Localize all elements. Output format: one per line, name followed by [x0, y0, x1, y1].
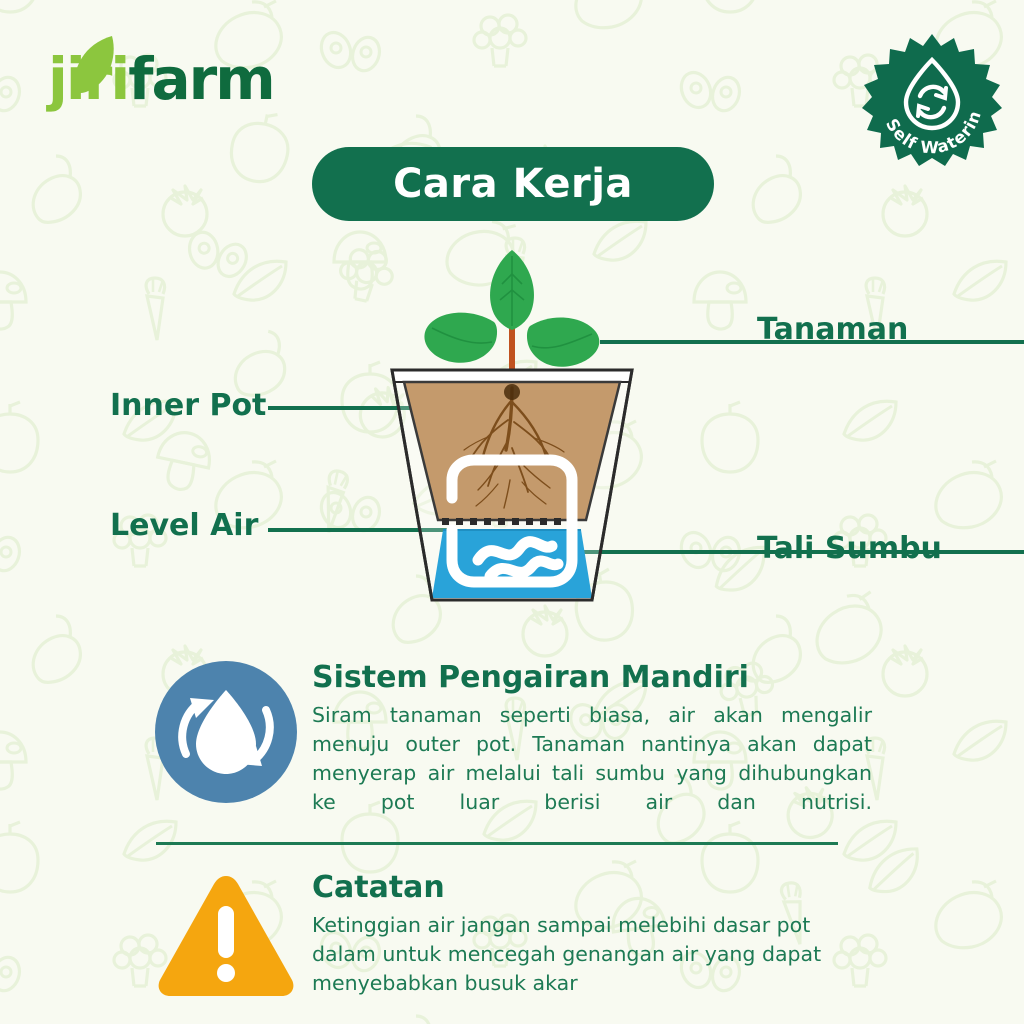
section-title-catatan: Catatan [312, 870, 872, 905]
section-catatan: Catatan Ketinggian air jangan sampai mel… [152, 868, 872, 1008]
callout-label-inner-pot: Inner Pot [110, 388, 266, 423]
water-drop-recycle-circle-icon [152, 658, 300, 806]
root-crown [504, 384, 520, 400]
callout-label-tali-sumbu: Tali Sumbu [757, 531, 942, 566]
section-sistem-pengairan-mandiri: Sistem Pengairan Mandiri Siram tanaman s… [152, 658, 872, 847]
section-title-sistem: Sistem Pengairan Mandiri [312, 660, 872, 695]
page-title-pill: Cara Kerja [312, 147, 714, 221]
warning-triangle-icon-wrap [152, 868, 300, 1008]
callout-leader-lines [268, 342, 1024, 552]
warning-triangle-icon [152, 868, 300, 1002]
section-body-sistem: Sistem Pengairan Mandiri Siram tanaman s… [300, 658, 872, 847]
outer-pot-rim [392, 370, 632, 382]
water-drop-recycle-circle-icon-wrap [152, 658, 300, 798]
page-title: Cara Kerja [393, 161, 633, 207]
section-body-catatan: Catatan Ketinggian air jangan sampai mel… [300, 868, 872, 998]
infographic-canvas: jirifarm Self Watering Cara Kerja [0, 0, 1024, 1024]
brand-logo[interactable]: jirifarm [48, 50, 274, 108]
section-text-catatan: Ketinggian air jangan sampai melebihi da… [312, 911, 872, 998]
section-divider [156, 842, 838, 845]
self-watering-pot-diagram [0, 230, 1024, 630]
plant-leaf-right [527, 317, 599, 366]
plant-leaf-left [424, 313, 497, 363]
callout-label-level-air: Level Air [110, 508, 258, 543]
logo-text-farm: farm [128, 45, 273, 113]
callout-label-tanaman: Tanaman [757, 312, 908, 347]
section-text-sistem: Siram tanaman seperti biasa, air akan me… [312, 701, 872, 847]
self-watering-badge: Self Watering [862, 30, 1002, 170]
leaf-icon [64, 32, 134, 102]
